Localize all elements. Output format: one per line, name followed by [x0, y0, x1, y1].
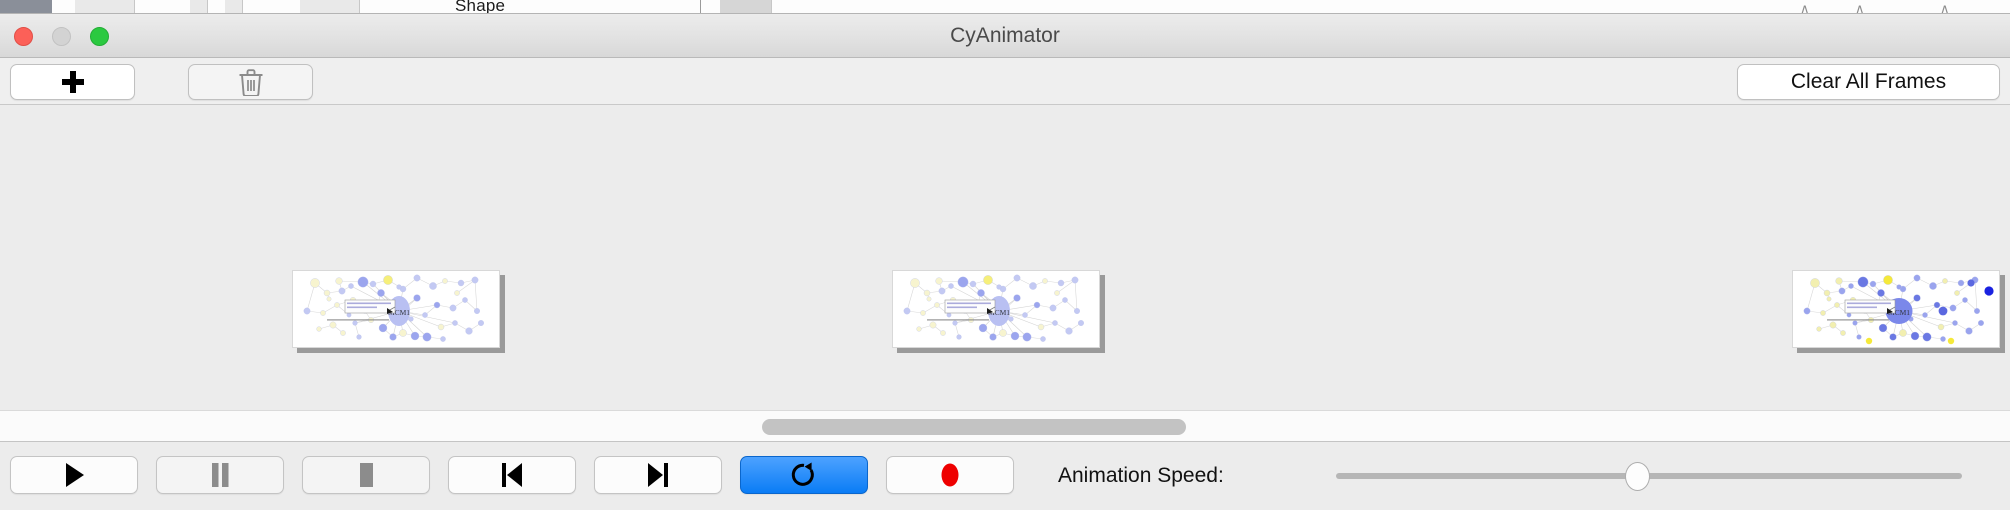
chevron-icon: ∧ [1855, 1, 1865, 14]
scrollbar-thumb[interactable] [762, 419, 1186, 435]
add-frame-button[interactable] [10, 64, 135, 100]
stop-icon [355, 462, 377, 488]
record-button[interactable] [886, 456, 1014, 494]
pause-icon [209, 462, 231, 488]
frame-network-image: MCM1 [1792, 270, 2000, 348]
animation-speed-thumb[interactable] [1625, 462, 1650, 491]
plus-icon [62, 71, 84, 93]
trash-icon [238, 68, 264, 96]
chevron-icon: ∧ [1800, 1, 1810, 14]
skip-back-icon [500, 462, 524, 488]
title-bar: CyAnimator [0, 14, 2010, 58]
background-tab [300, 0, 360, 14]
clear-all-frames-button[interactable]: Clear All Frames [1737, 64, 2000, 100]
record-icon [939, 461, 961, 489]
frame-network-image: MCM1 [292, 270, 500, 348]
background-window: Shape ∧ ∧ ∧ [0, 0, 2010, 14]
timeline-panel[interactable]: MCM1MCM1MCM1 Seconds 2131415161718 [0, 105, 2010, 410]
skip-back-button[interactable] [448, 456, 576, 494]
timeline-frame[interactable]: MCM1 [1792, 270, 2005, 353]
chevron-icon: ∧ [1940, 1, 1950, 14]
toolbar: Clear All Frames [0, 58, 2010, 105]
background-window-sidebar [0, 0, 52, 14]
frame-network-image: MCM1 [892, 270, 1100, 348]
background-window-label: Shape [455, 0, 505, 14]
play-icon [63, 462, 85, 488]
timeline-scrollbar[interactable] [0, 410, 2010, 442]
stop-button[interactable] [302, 456, 430, 494]
background-tab [75, 0, 135, 14]
timeline-frame[interactable]: MCM1 [892, 270, 1105, 353]
cyanimator-window: CyAnimator Clear All Frames MCM1MCM1MCM1… [0, 14, 2010, 510]
play-button[interactable] [10, 456, 138, 494]
skip-forward-icon [646, 462, 670, 488]
transport-bar: Animation Speed: [0, 442, 2010, 508]
loop-button[interactable] [740, 456, 868, 494]
pause-button[interactable] [156, 456, 284, 494]
background-tab [720, 0, 772, 14]
background-tab [225, 0, 243, 14]
background-tab [190, 0, 208, 14]
animation-speed-label: Animation Speed: [1058, 464, 1224, 488]
loop-icon [791, 461, 817, 489]
window-title: CyAnimator [0, 24, 2010, 48]
background-marker [700, 0, 701, 14]
timeline-frame[interactable]: MCM1 [292, 270, 505, 353]
delete-frame-button[interactable] [188, 64, 313, 100]
skip-forward-button[interactable] [594, 456, 722, 494]
